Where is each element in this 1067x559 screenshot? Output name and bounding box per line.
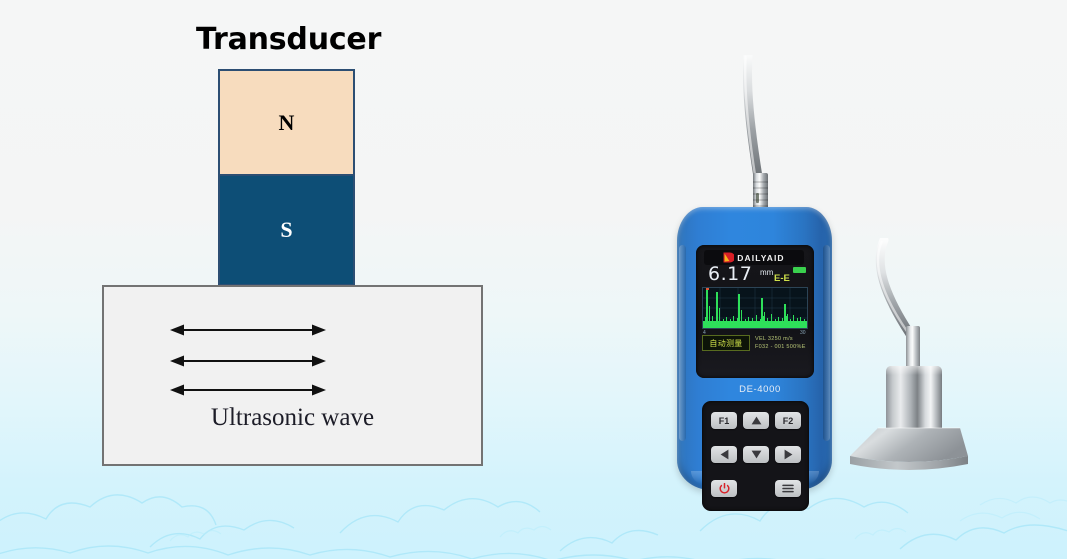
key-f1-label: F1	[719, 416, 730, 426]
gauge-model-label: DE-4000	[660, 384, 860, 395]
curved-steel-test-block	[848, 426, 970, 478]
key-menu[interactable]	[775, 480, 801, 497]
triangle-up-icon	[751, 416, 762, 425]
ultrasonic-thickness-gauge: DAILYAID 6.17 mm E-E	[660, 55, 860, 495]
measure-mode-label: 自动测量	[702, 335, 750, 351]
page-title: Transducer	[196, 22, 381, 57]
battery-full-icon	[793, 267, 806, 273]
reading-mode: E-E	[774, 273, 790, 284]
dailyaid-logo-icon	[723, 252, 734, 263]
brand-name: DAILYAID	[737, 253, 784, 263]
menu-lines-icon	[782, 484, 794, 493]
file-readout: F032 - 001 500%E	[755, 344, 808, 352]
key-right[interactable]	[775, 446, 801, 463]
triangle-down-icon	[751, 450, 762, 459]
triangle-left-icon	[720, 449, 729, 460]
gauge-faceplate: DAILYAID 6.17 mm E-E	[696, 245, 814, 378]
key-power[interactable]	[711, 480, 737, 497]
screen-status-readouts: VEL 3250 m/s F032 - 001 500%E	[755, 336, 808, 351]
power-icon	[719, 483, 730, 494]
reading-value: 6.17	[708, 264, 752, 285]
key-left[interactable]	[711, 446, 737, 463]
wave-arrow	[170, 383, 326, 385]
reading-unit: mm	[760, 268, 773, 277]
key-f2-label: F2	[783, 416, 794, 426]
gauge-cable	[694, 55, 824, 180]
ultrasonic-wave-box: Ultrasonic wave	[102, 285, 483, 466]
wave-arrow	[170, 354, 326, 356]
ascan-waveform-plot	[702, 287, 808, 329]
key-f1[interactable]: F1	[711, 412, 737, 429]
velocity-readout: VEL 3250 m/s	[755, 336, 808, 344]
thickness-reading: 6.17 mm E-E	[702, 266, 808, 287]
wave-arrow	[170, 323, 326, 325]
magnet-south-label: S	[280, 217, 292, 243]
triangle-right-icon	[784, 449, 793, 460]
magnet-north-label: N	[279, 110, 295, 136]
key-down[interactable]	[743, 446, 769, 463]
key-f2[interactable]: F2	[775, 412, 801, 429]
gauge-keypad: F1 F2	[702, 401, 809, 511]
ultrasonic-wave-label: Ultrasonic wave	[104, 404, 481, 432]
ultrasonic-probe	[848, 238, 978, 483]
magnet-south-pole: S	[220, 176, 353, 284]
screen-status-strip: 自动测量 VEL 3250 m/s F032 - 001 500%E	[702, 335, 808, 352]
transducer-magnet: N S	[218, 69, 355, 286]
slide-canvas: Transducer N S	[0, 0, 1067, 559]
magnet-north-pole: N	[220, 71, 353, 176]
key-up[interactable]	[743, 412, 769, 429]
